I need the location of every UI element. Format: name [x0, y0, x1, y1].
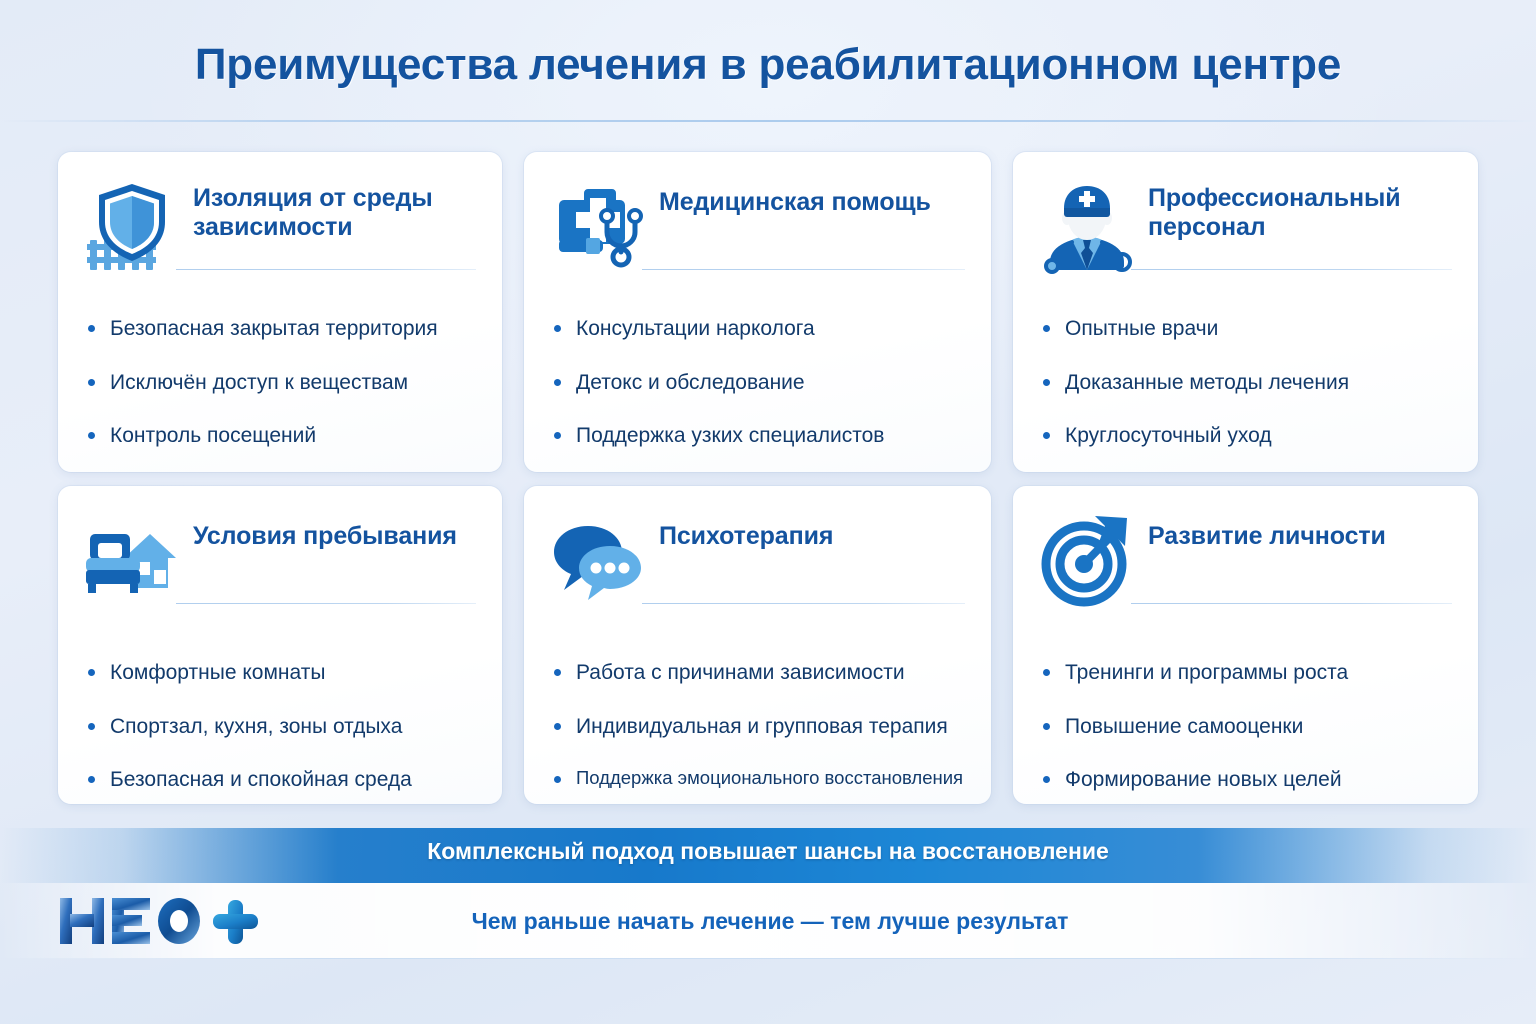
bullet-dot [1043, 723, 1050, 730]
medical-kit-stethoscope-icon [550, 178, 646, 274]
page-header: Преимущества лечения в реабилитационном … [0, 0, 1536, 122]
header-divider [0, 120, 1536, 122]
list-item: Формирование новых целей [1039, 767, 1452, 793]
card-header: Развитие личности [1039, 512, 1452, 608]
bullet-dot [554, 669, 561, 676]
bullet-dot [1043, 776, 1050, 783]
list-item: Безопасная закрытая территория [84, 316, 476, 342]
list-item-label: Безопасная и спокойная среда [110, 768, 412, 791]
benefit-card-accommodation[interactable]: Условия пребывания Комфортные комнаты Сп… [58, 486, 502, 804]
list-item: Индивидуальная и групповая терапия [550, 714, 965, 740]
bullet-dot [1043, 379, 1050, 386]
bullet-dot [88, 432, 95, 439]
list-item-label: Формирование новых целей [1065, 768, 1342, 791]
list-item: Безопасная и спокойная среда [84, 767, 476, 793]
list-item: Комфортные комнаты [84, 660, 476, 686]
list-item: Детокс и обследование [550, 370, 965, 396]
bullet-dot [88, 325, 95, 332]
benefit-list: Опытные врачи Доказанные методы лечения … [1039, 316, 1452, 449]
page-title: Преимущества лечения в реабилитационном … [0, 40, 1536, 90]
list-item-label: Контроль посещений [110, 424, 316, 447]
benefit-card-isolation[interactable]: Изоляция от среды зависимости Безопасная… [58, 152, 502, 472]
list-item: Тренинги и программы роста [1039, 660, 1452, 686]
list-item: Поддержка узких специалистов [550, 423, 965, 449]
list-item-label: Индивидуальная и групповая терапия [576, 715, 948, 738]
bullet-dot [554, 432, 561, 439]
card-divider [1131, 603, 1452, 604]
card-header: Условия пребывания [84, 512, 476, 608]
bullet-dot [88, 379, 95, 386]
card-title: Профессиональный персонал [1148, 178, 1452, 243]
speech-bubbles-icon [550, 512, 646, 608]
list-item: Опытные врачи [1039, 316, 1452, 342]
list-item: Круглосуточный уход [1039, 423, 1452, 449]
list-item-label: Тренинги и программы роста [1065, 661, 1348, 684]
list-item: Работа с причинами зависимости [550, 660, 965, 686]
bed-house-icon [84, 512, 180, 608]
list-item-label: Поддержка узких специалистов [576, 424, 884, 447]
footer-tagline: Чем раньше начать лечение — тем лучше ре… [270, 883, 1270, 959]
list-item: Исключён доступ к веществам [84, 370, 476, 396]
benefit-list: Работа с причинами зависимости Индивидуа… [550, 660, 965, 790]
bullet-dot [88, 723, 95, 730]
bullet-dot [88, 776, 95, 783]
card-header: Медицинская помощь [550, 178, 965, 274]
card-header: Профессиональный персонал [1039, 178, 1452, 274]
list-item: Спортзал, кухня, зоны отдыха [84, 714, 476, 740]
card-title: Психотерапия [659, 512, 833, 551]
list-item-label: Исключён доступ к веществам [110, 371, 408, 394]
list-item: Консультации нарколога [550, 316, 965, 342]
benefit-list: Тренинги и программы роста Повышение сам… [1039, 660, 1452, 793]
bullet-dot [1043, 325, 1050, 332]
list-item-label: Работа с причинами зависимости [576, 661, 905, 684]
benefit-list: Консультации нарколога Детокс и обследов… [550, 316, 965, 449]
doctor-icon [1039, 178, 1135, 274]
list-item: Поддержка эмоционального восстановления [550, 767, 965, 790]
list-item-label: Комфортные комнаты [110, 661, 325, 684]
list-item-label: Поддержка эмоционального восстановления [576, 767, 963, 788]
list-item: Контроль посещений [84, 423, 476, 449]
list-item-label: Консультации нарколога [576, 317, 815, 340]
benefit-list: Безопасная закрытая территория Исключён … [84, 316, 476, 449]
card-title: Изоляция от среды зависимости [193, 178, 476, 243]
list-item: Доказанные методы лечения [1039, 370, 1452, 396]
list-item-label: Опытные врачи [1065, 317, 1218, 340]
card-header: Психотерапия [550, 512, 965, 608]
bullet-dot [554, 723, 561, 730]
footer-banner-text: Комплексный подход повышает шансы на вос… [0, 824, 1536, 879]
list-item-label: Безопасная закрытая территория [110, 317, 438, 340]
bullet-dot [554, 379, 561, 386]
target-arrow-icon [1039, 512, 1135, 608]
benefit-card-psychotherapy[interactable]: Психотерапия Работа с причинами зависимо… [524, 486, 991, 804]
card-divider [642, 603, 965, 604]
card-divider [176, 269, 476, 270]
bullet-dot [88, 669, 95, 676]
benefit-card-medical-help[interactable]: Медицинская помощь Консультации нарколог… [524, 152, 991, 472]
shield-fence-icon [84, 178, 180, 274]
list-item: Повышение самооценки [1039, 714, 1452, 740]
list-item-label: Спортзал, кухня, зоны отдыха [110, 715, 402, 738]
card-divider [1131, 269, 1452, 270]
bullet-dot [1043, 669, 1050, 676]
card-title: Медицинская помощь [659, 178, 931, 217]
bullet-dot [554, 325, 561, 332]
brand-logo[interactable] [58, 892, 258, 950]
list-item-label: Детокс и обследование [576, 371, 805, 394]
benefits-grid: Изоляция от среды зависимости Безопасная… [58, 152, 1478, 804]
card-divider [176, 603, 476, 604]
card-divider [642, 269, 965, 270]
list-item-label: Доказанные методы лечения [1065, 371, 1349, 394]
card-title: Развитие личности [1148, 512, 1386, 551]
list-item-label: Повышение самооценки [1065, 715, 1303, 738]
benefit-card-personal-growth[interactable]: Развитие личности Тренинги и программы р… [1013, 486, 1478, 804]
page-footer: Комплексный подход повышает шансы на вос… [0, 824, 1536, 1024]
list-item-label: Круглосуточный уход [1065, 424, 1272, 447]
card-title: Условия пребывания [193, 512, 457, 551]
card-header: Изоляция от среды зависимости [84, 178, 476, 274]
bullet-dot [554, 776, 561, 783]
benefit-card-professional-staff[interactable]: Профессиональный персонал Опытные врачи … [1013, 152, 1478, 472]
bullet-dot [1043, 432, 1050, 439]
benefit-list: Комфортные комнаты Спортзал, кухня, зоны… [84, 660, 476, 793]
